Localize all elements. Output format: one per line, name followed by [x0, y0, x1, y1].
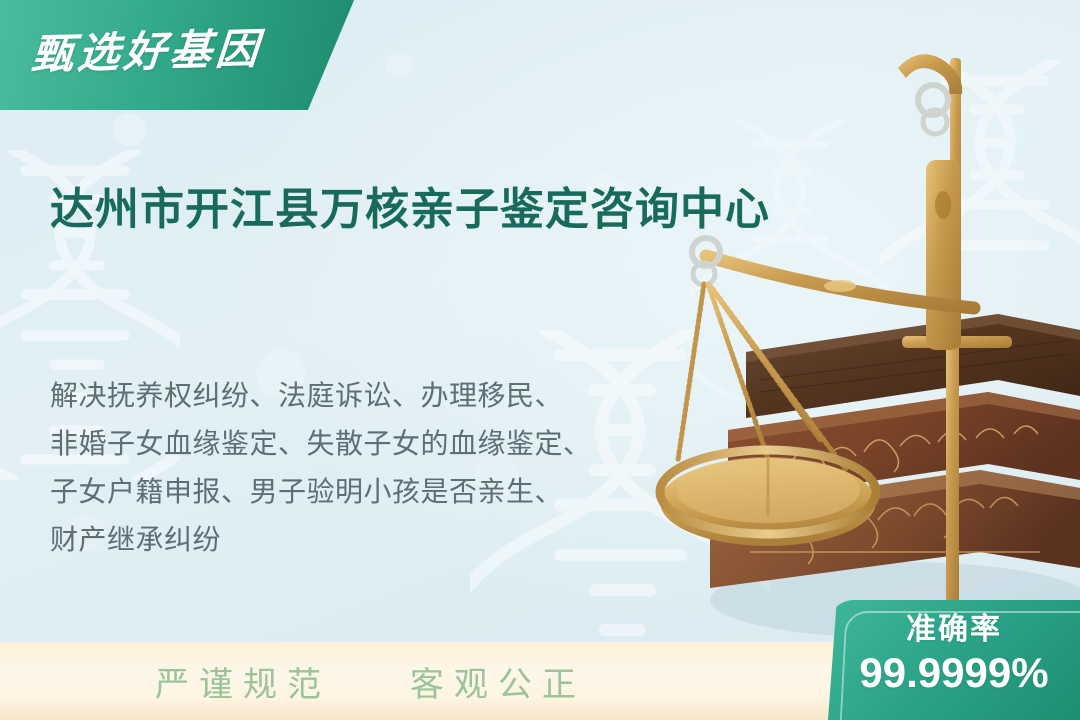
footer-slogan-left: 严谨规范: [155, 666, 331, 704]
brand-badge: 甄选好基因: [0, 0, 360, 110]
promo-banner: 甄选好基因 达州市开江县万核亲子鉴定咨询中心 解决抚养权纠纷、法庭诉讼、办理移民…: [0, 0, 1080, 720]
footer-slogan-right: 客观公正: [410, 666, 586, 704]
footer-slogan: 严谨规范 客观公正: [155, 657, 586, 706]
service-description-line: 子女户籍申报、男子验明小孩是否亲生、: [50, 468, 740, 516]
accuracy-label: 准确率: [828, 613, 1080, 646]
service-description-line: 非婚子女血缘鉴定、失散子女的血缘鉴定、: [50, 420, 740, 468]
page-title: 达州市开江县万核亲子鉴定咨询中心: [50, 181, 850, 239]
accuracy-value: 99.9999%: [828, 650, 1080, 696]
service-description-line: 解决抚养权纠纷、法庭诉讼、办理移民、: [50, 372, 740, 420]
service-description: 解决抚养权纠纷、法庭诉讼、办理移民、 非婚子女血缘鉴定、失散子女的血缘鉴定、 子…: [50, 372, 740, 565]
brand-badge-label: 甄选好基因: [29, 14, 264, 81]
accuracy-badge: 准确率 99.9999%: [828, 600, 1080, 720]
service-description-line: 财产继承纠纷: [50, 516, 740, 564]
